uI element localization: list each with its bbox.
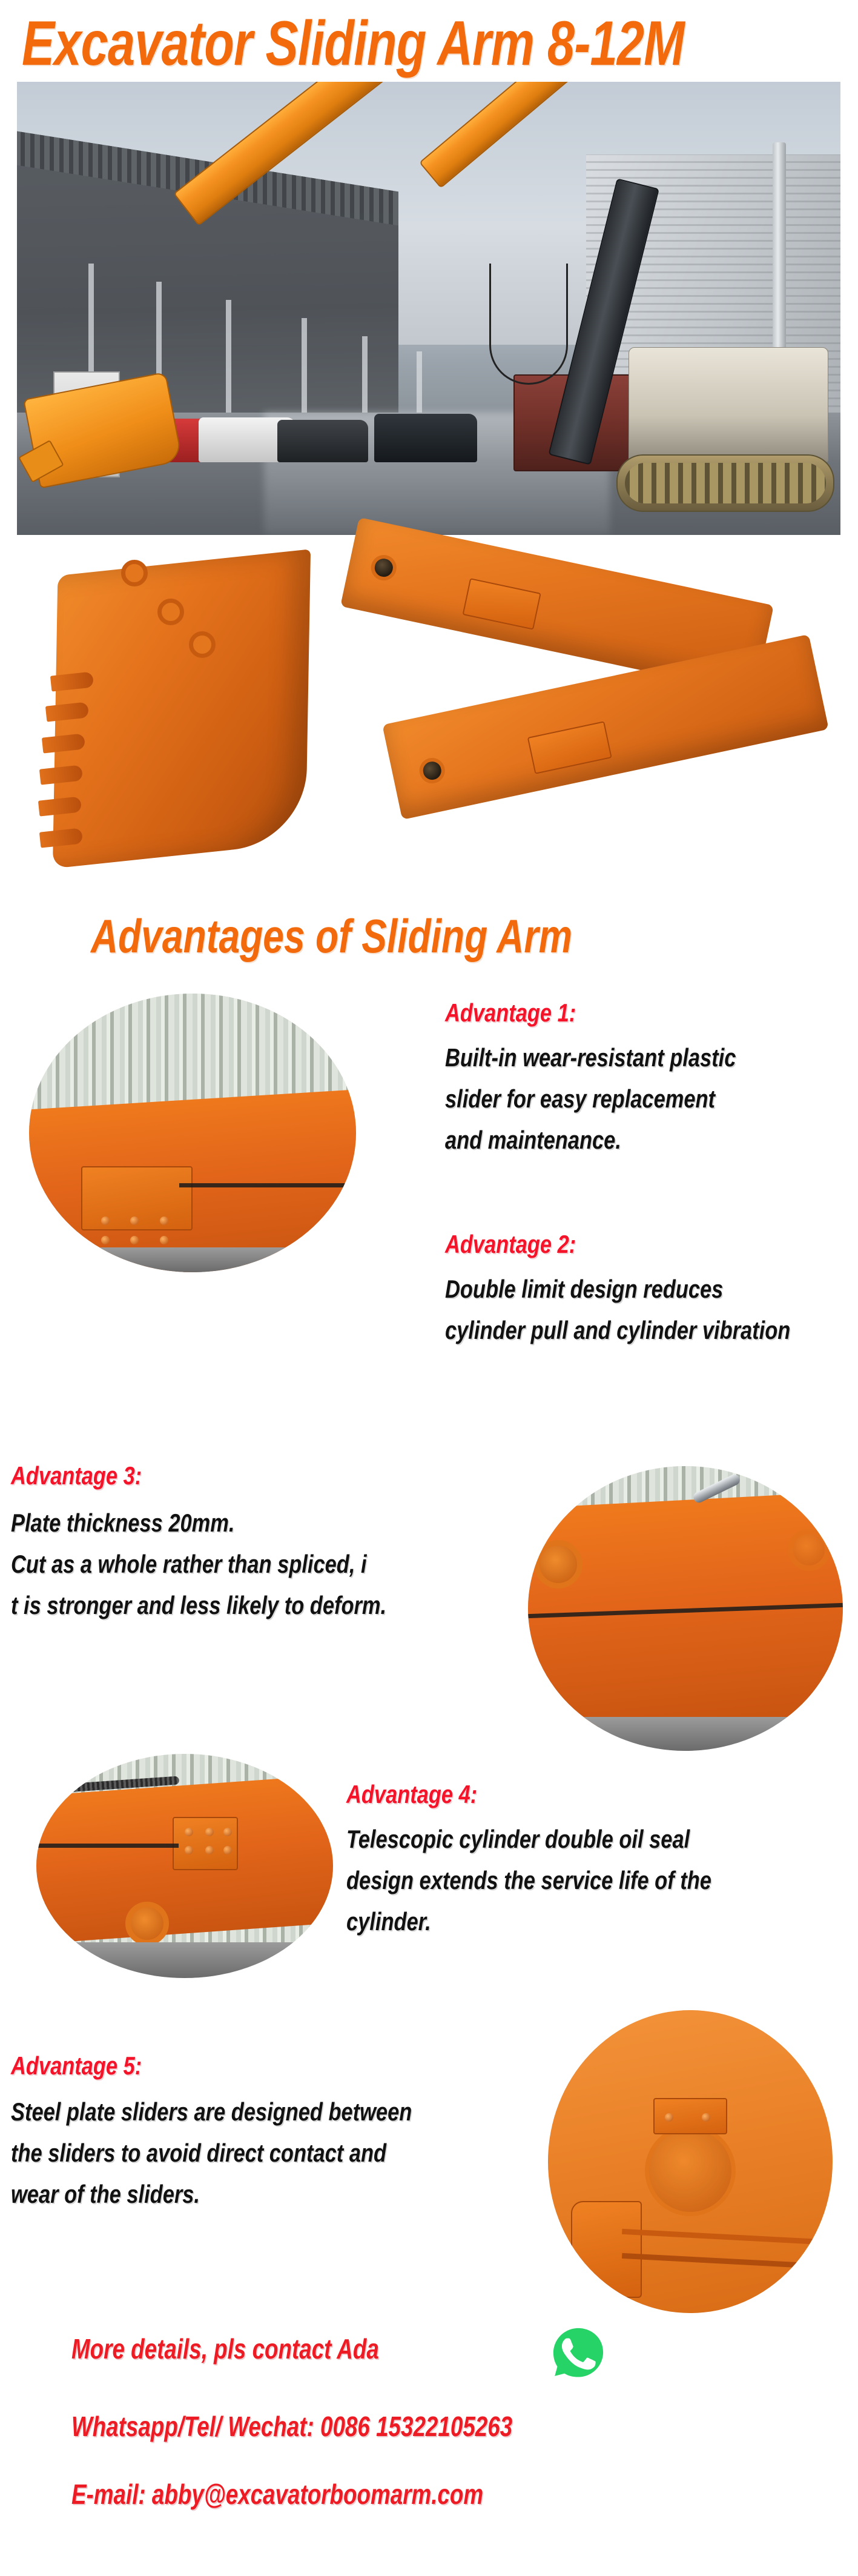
advantage-5-text-wrap: Steel plate sliders are designed between…: [11, 2091, 500, 2215]
excavator-cab: [629, 347, 828, 462]
bolt: [101, 1236, 110, 1244]
hydraulic-hose: [489, 264, 568, 385]
bolt: [665, 2113, 673, 2122]
bucket-lug: [189, 631, 216, 658]
ground-shadow: [29, 1247, 356, 1272]
advantage-1-photo: [29, 994, 356, 1272]
bucket-product-photo: [54, 563, 309, 854]
contact-line-3: E-mail: abby@excavatorboomarm.com: [71, 2478, 483, 2511]
bolt: [223, 1846, 232, 1854]
advantage-5-line-1: Steel plate sliders are designed between: [11, 2091, 412, 2133]
advantage-4-line-1: Telescopic cylinder double oil seal: [346, 1819, 711, 1860]
advantage-3-text-wrap: Plate thickness 20mm. Cut as a whole rat…: [11, 1502, 469, 1626]
advantage-3-line-2: Cut as a whole rather than spliced, i: [11, 1544, 386, 1585]
advantage-5-label-wrap: Advantage 5:: [11, 2051, 171, 2080]
weld-ring: [645, 2125, 736, 2216]
product-flyer-page: Excavator Sliding Arm 8-12M: [0, 0, 858, 2576]
slide-seam: [36, 1844, 179, 1848]
advantage-4-photo: [36, 1754, 333, 1978]
advantage-1-label: Advantage 1:: [445, 998, 576, 1027]
bolt: [101, 1217, 110, 1225]
page-title: Excavator Sliding Arm 8-12M: [22, 11, 636, 77]
arm-pin-hole: [417, 755, 447, 786]
advantage-5-photo: [548, 2010, 833, 2313]
parked-car: [277, 420, 368, 462]
advantage-4-label-wrap: Advantage 4:: [346, 1780, 506, 1809]
advantage-2-label-wrap: Advantage 2:: [445, 1230, 605, 1259]
advantage-3-label-wrap: Advantage 3:: [11, 1461, 171, 1490]
advantage-5-line-3: wear of the sliders.: [11, 2174, 412, 2215]
advantage-2-text-wrap: Double limit design reduces cylinder pul…: [445, 1269, 858, 1351]
advantage-5-line-2: the sliders to avoid direct contact and: [11, 2133, 412, 2174]
bolt: [205, 1846, 214, 1854]
ground-shadow: [36, 1942, 333, 1978]
advantage-1-line-1: Built-in wear-resistant plastic: [445, 1037, 736, 1078]
bolt: [160, 1217, 168, 1225]
bolt: [185, 1846, 193, 1854]
contact-line-1: More details, pls contact Ada: [71, 2332, 379, 2365]
arm-pin-hole: [369, 553, 399, 583]
advantage-3-photo: [528, 1466, 843, 1751]
advantage-2-label: Advantage 2:: [445, 1230, 576, 1259]
orange-arm-body: [29, 1087, 356, 1272]
arm-mount-plate: [527, 721, 612, 774]
cylinder-mount-plate: [173, 1817, 238, 1871]
advantage-4-text-wrap: Telescopic cylinder double oil seal desi…: [346, 1819, 791, 1942]
advantages-heading: Advantages of Sliding Arm: [91, 909, 572, 964]
advantage-4-line-3: cylinder.: [346, 1901, 711, 1942]
ground-shadow: [528, 1717, 843, 1751]
steel-plate-slider: [571, 2201, 642, 2298]
bucket-lug: [121, 560, 148, 586]
advantage-1-line-2: slider for easy replacement: [445, 1078, 736, 1120]
bolt: [223, 1828, 232, 1836]
contact-line-2: Whatsapp/Tel/ Wechat: 0086 15322105263: [71, 2410, 512, 2443]
advantage-2-line-2: cylinder pull and cylinder vibration: [445, 1310, 790, 1351]
bolt: [185, 1828, 193, 1836]
advantage-1-line-3: and maintenance.: [445, 1120, 736, 1161]
whatsapp-icon[interactable]: [547, 2322, 610, 2385]
advantage-2-line-1: Double limit design reduces: [445, 1269, 790, 1310]
advantage-4-label: Advantage 4:: [346, 1780, 477, 1809]
pin-boss: [125, 1902, 169, 1945]
arm-mount-plate: [463, 578, 541, 630]
slide-seam: [179, 1183, 356, 1187]
advantage-1-label-wrap: Advantage 1:: [445, 998, 605, 1027]
advantage-4-line-2: design extends the service life of the: [346, 1860, 711, 1901]
advantage-1-text-wrap: Built-in wear-resistant plastic slider f…: [445, 1037, 800, 1161]
advantage-3-label: Advantage 3:: [11, 1461, 142, 1490]
bolt: [702, 2113, 710, 2122]
bucket-lug: [157, 599, 184, 625]
bucket-shell: [53, 549, 311, 868]
advantage-3-line-3: t is stronger and less likely to deform.: [11, 1585, 386, 1626]
parked-car: [374, 414, 477, 462]
excavator-tracks: [616, 454, 834, 512]
product-photo-strip: [0, 545, 858, 872]
hero-photo: [17, 82, 840, 535]
advantage-3-line-1: Plate thickness 20mm.: [11, 1502, 386, 1544]
advantage-5-label: Advantage 5:: [11, 2051, 142, 2080]
